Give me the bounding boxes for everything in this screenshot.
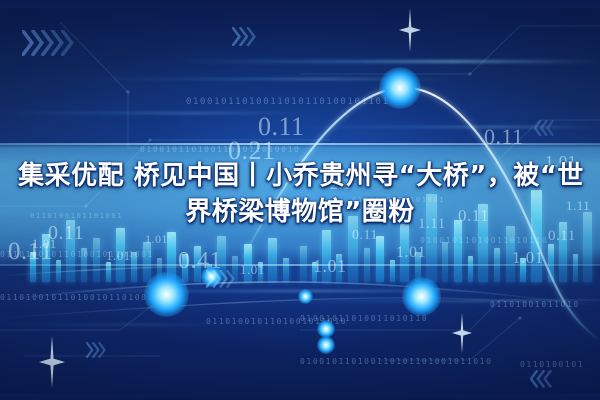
glow-node xyxy=(201,266,222,287)
binary-digits-row: 0110100101101001011010 xyxy=(206,317,356,326)
glow-node xyxy=(298,289,313,304)
sparkle-star-icon xyxy=(39,336,65,388)
chevron-right-icon xyxy=(206,270,240,293)
title-block: 集采优配 桥见中国丨小乔贵州寻“大桥”，被“世 界桥梁博物馆”圈粉 xyxy=(0,158,600,230)
glow-node xyxy=(317,320,335,338)
highlight-band-bottom-edge xyxy=(0,264,600,266)
banner-image: 0.110.210.110.111.011.011.010.110.110.41… xyxy=(0,0,600,400)
title-line-1: 集采优配 桥见中国丨小乔贵州寻“大桥”，被“世 xyxy=(6,158,594,194)
binary-digits-row: 01101001011010 xyxy=(490,300,590,309)
binary-digits-row: 0110100101101001011010010110 xyxy=(0,293,190,302)
chart-bar xyxy=(207,264,212,282)
highlight-band-top-edge xyxy=(0,143,600,145)
bottom-edge-strip xyxy=(0,394,600,400)
glow-node xyxy=(379,67,421,109)
background-number-label: 0.11 xyxy=(258,112,305,142)
glow-node xyxy=(144,272,189,317)
glow-node xyxy=(317,336,335,354)
sparkle-star-icon xyxy=(452,313,472,353)
binary-digits-row: 010010110100110101101001011010 xyxy=(300,357,540,366)
chevron-right-icon xyxy=(232,27,262,51)
binary-digits-row: 0110100101 xyxy=(520,360,600,369)
top-edge-strip xyxy=(0,0,600,8)
title-line-2: 界桥梁博物馆”圈粉 xyxy=(6,194,594,230)
glow-node xyxy=(402,277,441,316)
binary-digits-row: 01001011010011010110 xyxy=(300,314,450,323)
chevron-left-icon xyxy=(534,120,559,141)
binary-digits-row: 01001011010011010110100101101 xyxy=(186,97,436,107)
chevron-left-icon xyxy=(530,370,557,393)
chevron-right-icon xyxy=(22,30,81,61)
chevron-right-icon xyxy=(86,342,111,363)
sparkle-star-icon xyxy=(399,8,421,52)
